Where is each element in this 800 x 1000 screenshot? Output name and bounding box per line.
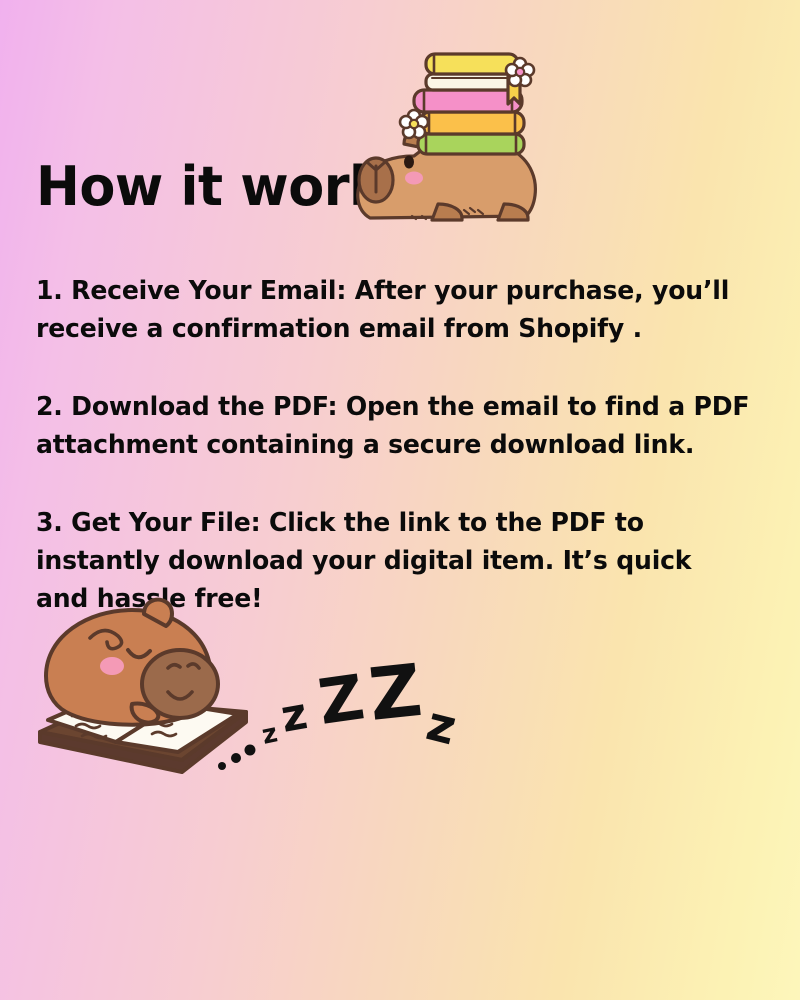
book-orange <box>420 112 524 134</box>
book-white <box>426 74 520 90</box>
book-pink <box>414 90 522 112</box>
sleep-letter-2: z <box>277 688 311 743</box>
capybara-eye <box>404 156 414 169</box>
book-yellow <box>426 54 518 74</box>
capybara-with-book-stack-illustration <box>352 58 552 243</box>
sleeping-capybara-muzzle <box>142 650 218 718</box>
sleep-zzz-text: z z Z Z z <box>259 648 462 756</box>
sleeping-capybara-svg: z z Z Z z <box>32 592 452 797</box>
steps-list: 1. Receive Your Email: After your purcha… <box>36 272 762 618</box>
sleep-letter-3: Z <box>314 660 369 739</box>
capybara-blush <box>405 172 423 185</box>
sleeping-capybara-blush <box>100 657 124 675</box>
sleep-dots <box>218 745 256 771</box>
sleep-letter-4: Z <box>365 648 426 737</box>
capybara-books-svg <box>352 58 552 243</box>
sleep-letter-1: z <box>259 718 280 750</box>
step-item-1: 1. Receive Your Email: After your purcha… <box>36 272 751 348</box>
step-item-2: 2. Download the PDF: Open the email to f… <box>36 388 751 464</box>
poster-canvas: How it works <box>0 0 800 1000</box>
sleeping-capybara-illustration: z z Z Z z <box>32 592 452 797</box>
book-green <box>418 134 524 154</box>
sleep-letter-5: z <box>421 695 462 756</box>
